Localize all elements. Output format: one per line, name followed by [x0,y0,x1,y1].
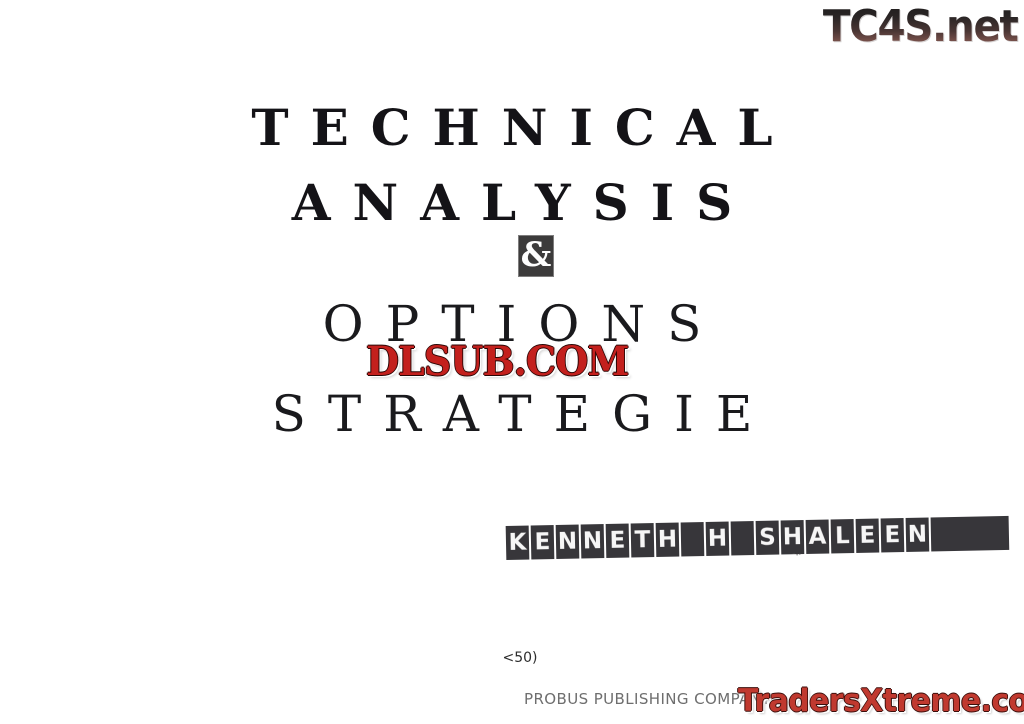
ampersand-glyph: & [519,234,553,276]
author-trailing-tile [931,516,1010,552]
title-line-strategie: STRATEGIE [0,385,1024,443]
book-cover-scan: TC4S.net TC4S.net TECHNICAL ANALYSIS & O… [0,0,1024,724]
scan-artifact-number: <50) [8,650,1024,666]
author-letter-tile: E [606,524,630,558]
watermark-tradersxtreme: TradersXtreme.com [738,684,1024,718]
author-letter-tile: H [656,523,680,557]
publisher-name: PROBUS PUBLISHING COMPANY [524,689,771,709]
author-letter-tile: K [506,526,530,560]
title-line-technical: TECHNICAL [0,98,1024,157]
author-spacer-tile [681,522,705,556]
author-letter-tile: E [856,519,880,553]
author-letter-tile: E [881,518,905,552]
author-letter-tile: E [531,525,555,559]
author-letter-tile: N [581,524,605,558]
author-letter-tile: A [806,520,830,554]
author-letter-tile: T [631,523,655,557]
watermark-dlsub: DLSUB.COM [366,341,628,383]
author-letter-tile: L [831,519,855,553]
cover-content: TECHNICAL ANALYSIS & OPTIONS DLSUB.COM S… [0,0,1024,724]
ampersand-tile: & [519,236,553,276]
scan-smudge: -.. [791,547,804,561]
author-letter-tile: N [556,525,580,559]
author-letter-tile: S [756,521,780,555]
author-letter-tile: H [706,522,730,556]
title-line-analysis: ANALYSIS [0,173,1024,232]
author-name-strip: K E N N E T H H S H A L E E N -.. [506,516,1010,560]
author-letter-tile: N [906,518,930,552]
author-spacer-tile [731,521,755,555]
